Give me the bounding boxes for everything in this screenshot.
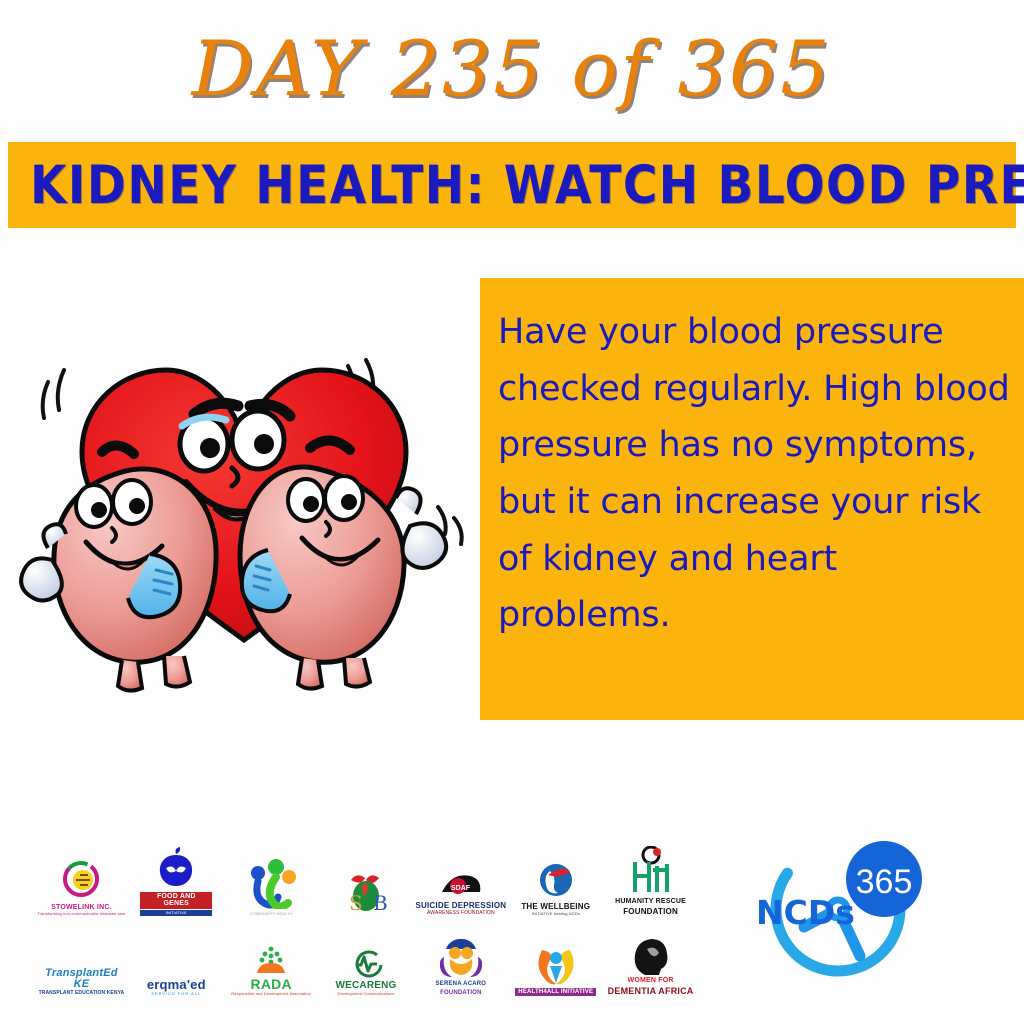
hands-icon [440, 937, 482, 979]
partner-tagline: INITIATIVE [140, 910, 212, 916]
day-header: DAY 235 of 365 [0, 8, 1024, 128]
partner-tagline: DEMENTIA AFRICA [608, 987, 694, 996]
partner-logo-strip: STOWELINK INC. Transforming non-communic… [36, 832, 696, 994]
partner-tagline: COMMUNITY HEALTH [250, 912, 293, 916]
partner-tagline: FOUNDATION [623, 908, 678, 916]
partner-name: FOOD AND GENES [140, 892, 212, 909]
message-text: Have your blood pressure checked regular… [498, 304, 1014, 644]
partner-tagline: AWARENESS FOUNDATION [427, 911, 495, 916]
partner-logo-food-and-genes: FOOD AND GENES INITIATIVE [131, 832, 222, 916]
stowelink-icon [58, 860, 104, 902]
people-icon [245, 857, 297, 909]
partner-logo-sob: S B [321, 832, 412, 916]
partner-logo-health4all: HEALTH4ALL INITIATIVE [510, 918, 601, 996]
partner-logo-suicide-depression: SDAF SUICIDE DEPRESSION AWARENESS FOUNDA… [415, 832, 506, 916]
partner-logo-erqmaed: erqma'ed SERVICE FOR ALL [131, 918, 222, 996]
svg-text:B: B [373, 891, 388, 915]
partner-logo-humanity-rescue: HUMANITY RESCUE FOUNDATION [605, 832, 696, 916]
apple-icon [154, 846, 198, 890]
hrf-icon [627, 846, 675, 896]
heart-kidneys-illustration [18, 322, 470, 722]
ncds-365-logo: 365 NCDs [742, 824, 942, 994]
kidney-left-character [21, 445, 216, 690]
partner-name: RADA [251, 977, 292, 992]
kidney-right-character [240, 440, 446, 688]
partner-tagline: Transforming non-communicable diseases c… [37, 912, 125, 916]
poster-canvas: DAY 235 of 365 KIDNEY HEALTH: WATCH BLOO… [0, 0, 1024, 1024]
partner-logo-serena-acaro: SERENA ACARO FOUNDATION [415, 918, 506, 996]
headline-banner: KIDNEY HEALTH: WATCH BLOOD PRESSURE [8, 142, 1016, 228]
partner-tagline: TRANSPLANT EDUCATION KENYA [39, 991, 125, 996]
page-title: DAY 235 of 365 [192, 24, 832, 113]
partner-logo-row-2: TransplantEd KE TRANSPLANT EDUCATION KEN… [36, 918, 696, 996]
health4all-icon [534, 944, 578, 986]
partner-tagline: SERVICE FOR ALL [151, 992, 201, 996]
partner-logo-wellbeing-initiative: THE WELLBEING INITIATIVE beating NCDs [510, 832, 601, 916]
partner-name: HUMANITY RESCUE [615, 898, 686, 905]
partner-logo-rada: RADA Responsible and Development Associa… [226, 918, 317, 996]
partner-tagline: Responsible and Development Association [231, 992, 311, 996]
badge-365-label: 365 [856, 863, 913, 901]
partner-name: HEALTH4ALL INITIATIVE [515, 988, 596, 996]
sob-icon: S B [341, 866, 391, 916]
partner-logo-women-dementia: WOMEN FOR DEMENTIA AFRICA [605, 918, 696, 996]
partner-name: WOMEN FOR [628, 977, 674, 984]
brand-name: NCDs [756, 893, 855, 932]
sdaf-icon: SDAF [440, 872, 482, 900]
partner-logo-stowelink: STOWELINK INC. Transforming non-communic… [36, 832, 127, 916]
partner-logo-wecareng: WECARENG Development Communications [321, 918, 412, 996]
head-profile-icon [633, 937, 669, 975]
partner-name: TransplantEd KE [36, 968, 127, 991]
partner-name: erqma'ed [147, 978, 206, 992]
rada-icon [254, 945, 288, 975]
partner-tagline: Development Communications [337, 992, 394, 996]
svg-text:S: S [349, 891, 363, 915]
svg-text:SDAF: SDAF [451, 885, 471, 892]
headline-text: KIDNEY HEALTH: WATCH BLOOD PRESSURE [8, 154, 1024, 216]
globe-icon [536, 861, 576, 901]
partner-logo-transplanted: TransplantEd KE TRANSPLANT EDUCATION KEN… [36, 918, 127, 996]
partner-name: SERENA ACARO [436, 981, 487, 987]
partner-logo-community-health: COMMUNITY HEALTH [226, 832, 317, 916]
partner-tagline: INITIATIVE beating NCDs [532, 912, 580, 916]
partner-tagline: FOUNDATION [440, 990, 482, 996]
message-panel: Have your blood pressure checked regular… [480, 278, 1024, 720]
partner-logo-row-1: STOWELINK INC. Transforming non-communic… [36, 832, 696, 916]
heartbeat-icon [349, 947, 383, 979]
